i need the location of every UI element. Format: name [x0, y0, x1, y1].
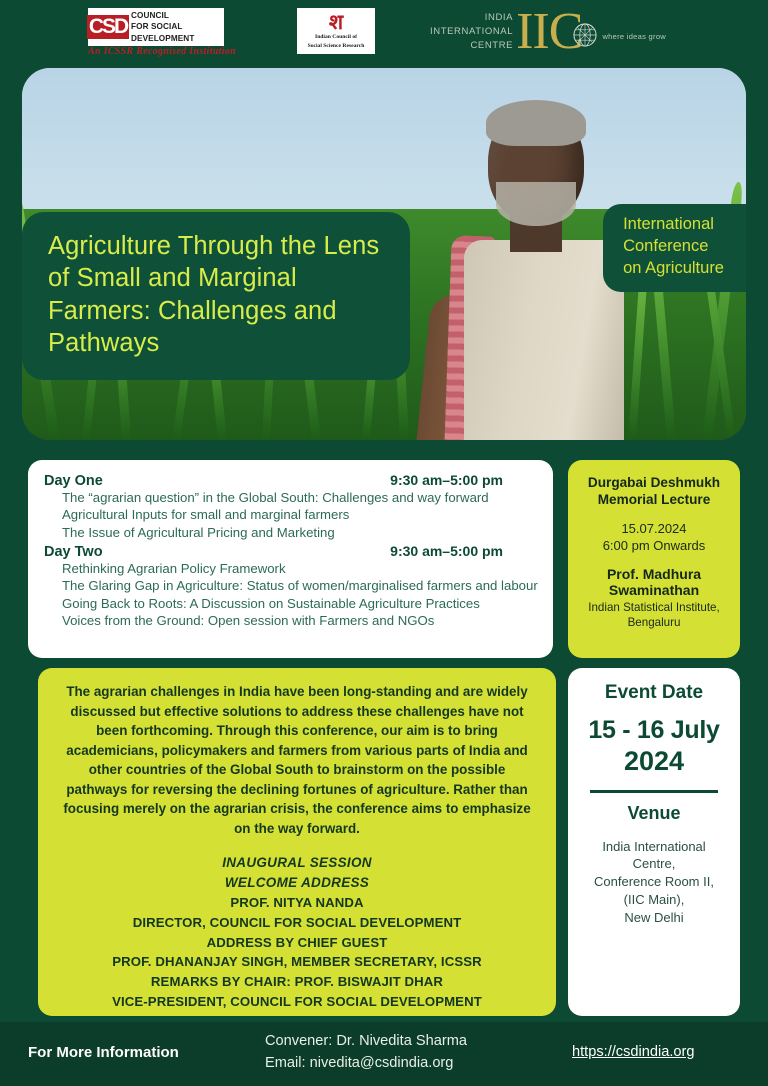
- inaugural-heading-2: WELCOME ADDRESS: [60, 873, 534, 893]
- icssr-logo-line-2: Social Science Research: [308, 42, 365, 50]
- day-one-session: The “agrarian question” in the Global So…: [44, 490, 539, 506]
- memorial-speaker-line-1: Prof. Madhura: [578, 566, 730, 583]
- venue-address: India International Centre, Conference R…: [576, 838, 732, 928]
- iic-logo-line-2: INTERNATIONAL: [430, 25, 513, 39]
- conference-badge-line-3: on Agriculture: [623, 258, 724, 280]
- event-date-venue-card: Event Date 15 - 16 July 2024 Venue India…: [568, 668, 740, 1016]
- conference-badge-line-2: Conference: [623, 236, 724, 258]
- website-link[interactable]: https://csdindia.org: [572, 1044, 695, 1060]
- convener-text: Convener: Dr. Nivedita Sharma: [265, 1031, 467, 1053]
- iic-logo-line-3: CENTRE: [430, 39, 513, 53]
- inaugural-line-5: REMARKS BY CHAIR: PROF. BISWAJIT DHAR: [60, 972, 534, 992]
- globe-icon: [572, 22, 598, 48]
- venue-line-5: New Delhi: [576, 909, 732, 927]
- day-one-time: 9:30 am–5:00 pm: [390, 472, 539, 488]
- venue-line-3: Conference Room II,: [576, 873, 732, 891]
- memorial-title-line-2: Memorial Lecture: [578, 491, 730, 508]
- inaugural-line-4: PROF. DHANANJAY SINGH, MEMBER SECRETARY,…: [60, 952, 534, 972]
- programme-card: Day One 9:30 am–5:00 pm The “agrarian qu…: [28, 460, 553, 658]
- abstract-card: The agrarian challenges in India have be…: [38, 668, 556, 1016]
- inaugural-session-block: INAUGURAL SESSION WELCOME ADDRESS PROF. …: [60, 853, 534, 1012]
- conference-badge-line-1: International: [623, 214, 724, 236]
- event-date-range: 15 - 16 July: [576, 716, 732, 745]
- footer-bar: For More Information Convener: Dr. Nived…: [0, 1022, 768, 1086]
- day-two-session: Going Back to Roots: A Discussion on Sus…: [44, 596, 539, 612]
- csd-logo-line-3: DEVELOPMENT: [131, 33, 223, 44]
- conference-badge: International Conference on Agriculture: [603, 204, 746, 292]
- memorial-date: 15.07.2024: [578, 520, 730, 537]
- csd-monogram-text: CSD: [87, 15, 129, 39]
- icssr-logo: श Indian Council of Social Science Resea…: [297, 8, 375, 54]
- iic-logo: INDIA INTERNATIONAL CENTRE IIC where ide…: [430, 6, 666, 58]
- day-one-session: The Issue of Agricultural Pricing and Ma…: [44, 525, 539, 541]
- title-panel: Agriculture Through the Lens of Small an…: [22, 212, 410, 380]
- csd-monogram-icon: CSD: [89, 9, 127, 45]
- memorial-speaker-line-2: Swaminathan: [578, 582, 730, 599]
- csd-logo-line-1: COUNCIL: [131, 10, 223, 21]
- event-date-label: Event Date: [576, 682, 732, 704]
- conference-poster: CSD COUNCIL FOR SOCIAL DEVELOPMENT An IC…: [0, 0, 768, 1086]
- day-one-session: Agricultural Inputs for small and margin…: [44, 507, 539, 523]
- day-two-time: 9:30 am–5:00 pm: [390, 543, 539, 559]
- farmer-beard: [496, 182, 576, 226]
- contact-block: Convener: Dr. Nivedita Sharma Email: niv…: [265, 1031, 467, 1074]
- csd-logo-text: COUNCIL FOR SOCIAL DEVELOPMENT: [127, 9, 223, 45]
- day-two-session: Rethinking Agrarian Policy Framework: [44, 561, 539, 577]
- day-two-session: The Glaring Gap in Agriculture: Status o…: [44, 578, 539, 594]
- csd-logo: CSD COUNCIL FOR SOCIAL DEVELOPMENT: [88, 8, 224, 46]
- inaugural-heading-1: INAUGURAL SESSION: [60, 853, 534, 873]
- venue-line-2: Centre,: [576, 855, 732, 873]
- day-two-header: Day Two 9:30 am–5:00 pm: [44, 543, 539, 560]
- memorial-title-line-1: Durgabai Deshmukh: [578, 474, 730, 491]
- page-title: Agriculture Through the Lens of Small an…: [48, 230, 390, 360]
- day-one-label: Day One: [44, 473, 103, 489]
- iic-logo-line-1: INDIA: [430, 11, 513, 25]
- csd-logo-line-2: FOR SOCIAL: [131, 21, 223, 32]
- event-year: 2024: [576, 746, 732, 777]
- icssr-flame-icon: श: [329, 12, 343, 32]
- inaugural-line-2: DIRECTOR, COUNCIL FOR SOCIAL DEVELOPMENT: [60, 913, 534, 933]
- memorial-time: 6:00 pm Onwards: [578, 537, 730, 554]
- iic-logo-words: INDIA INTERNATIONAL CENTRE: [430, 11, 513, 52]
- inaugural-line-1: PROF. NITYA NANDA: [60, 893, 534, 913]
- csd-logo-subtitle: An ICSSR Recognised Institution: [88, 46, 236, 57]
- venue-label: Venue: [576, 803, 732, 824]
- memorial-affiliation-line-1: Indian Statistical Institute,: [578, 601, 730, 615]
- icssr-logo-line-1: Indian Council of: [315, 33, 357, 41]
- memorial-lecture-card: Durgabai Deshmukh Memorial Lecture 15.07…: [568, 460, 740, 658]
- farmer-shirt: [464, 240, 624, 440]
- day-one-header: Day One 9:30 am–5:00 pm: [44, 472, 539, 489]
- venue-line-1: India International: [576, 838, 732, 856]
- inaugural-line-3: ADDRESS BY CHIEF GUEST: [60, 933, 534, 953]
- more-information-label: For More Information: [28, 1044, 179, 1061]
- email-text[interactable]: Email: nivedita@csdindia.org: [265, 1053, 467, 1075]
- logo-bar: CSD COUNCIL FOR SOCIAL DEVELOPMENT An IC…: [0, 0, 768, 62]
- memorial-affiliation-line-2: Bengaluru: [578, 616, 730, 630]
- iic-tagline: where ideas grow: [602, 32, 666, 41]
- day-two-label: Day Two: [44, 544, 103, 560]
- divider: [590, 790, 718, 793]
- abstract-text: The agrarian challenges in India have be…: [60, 682, 534, 839]
- venue-line-4: (IIC Main),: [576, 891, 732, 909]
- farmer-hair: [486, 100, 586, 146]
- inaugural-line-6: VICE-PRESIDENT, COUNCIL FOR SOCIAL DEVEL…: [60, 992, 534, 1012]
- day-two-session: Voices from the Ground: Open session wit…: [44, 613, 539, 629]
